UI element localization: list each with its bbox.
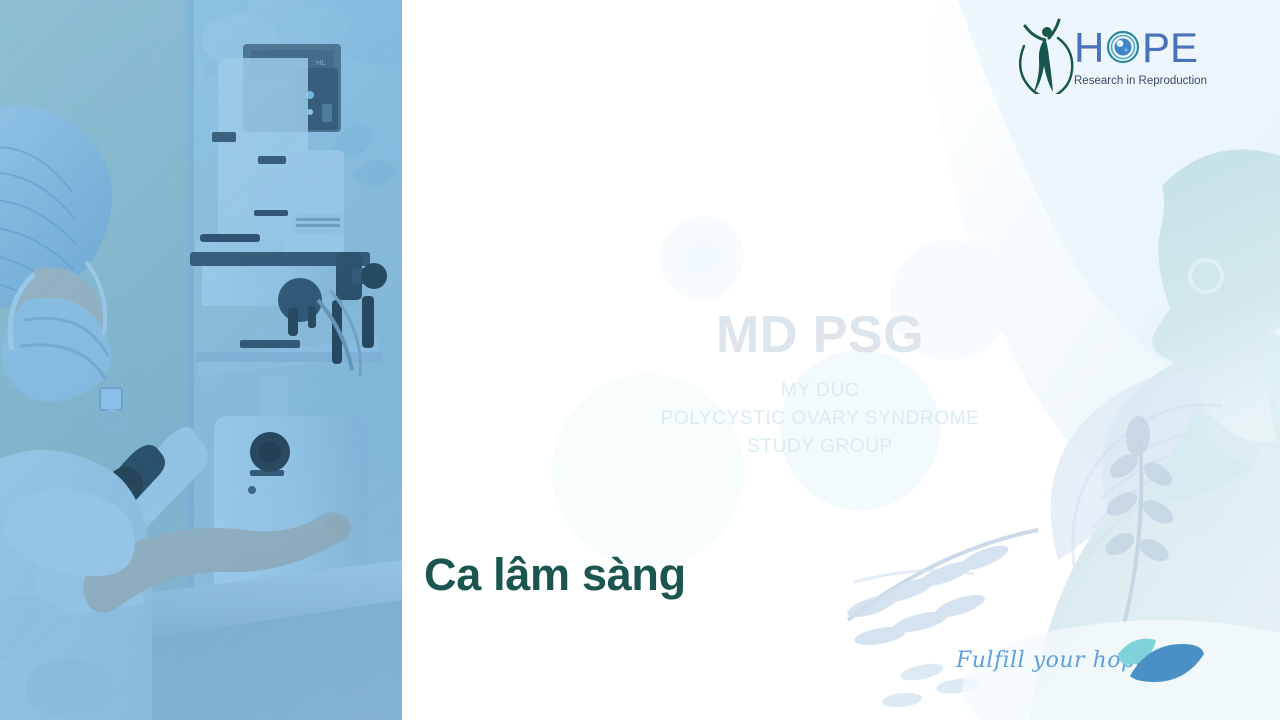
hope-wordmark: H P E xyxy=(1074,24,1198,71)
svg-text:P: P xyxy=(1142,24,1170,71)
hope-logo-graphic: H P E Research in Reproduction xyxy=(1014,16,1212,94)
page-title: Ca lâm sàng xyxy=(424,549,686,601)
leaf-mark-graphic xyxy=(1114,632,1206,684)
decorative-artwork xyxy=(402,0,1280,720)
lab-photo-panel: HL xyxy=(0,0,402,720)
svg-text:H: H xyxy=(1074,24,1104,71)
ovum-eye-icon xyxy=(1108,32,1138,62)
lab-photo-illustration: HL xyxy=(0,0,402,720)
hope-logo: H P E Research in Reproduction xyxy=(1014,16,1212,94)
svg-text:E: E xyxy=(1170,24,1198,71)
hope-logo-tagline: Research in Reproduction xyxy=(1074,75,1207,87)
svg-text:HL: HL xyxy=(316,59,325,67)
slide-root: HL xyxy=(0,0,1280,720)
hope-leaf-mark xyxy=(1114,632,1206,684)
decor-illustration xyxy=(402,0,1280,720)
hope-figure-icon xyxy=(1020,20,1072,94)
